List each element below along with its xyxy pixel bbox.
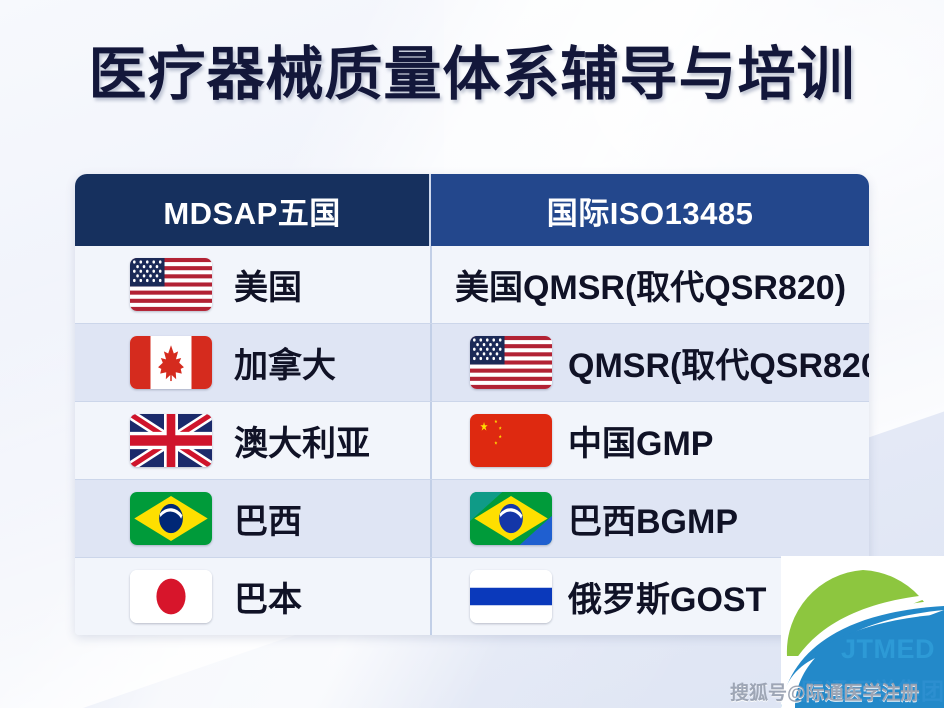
flag-brazil-icon [470,492,552,545]
logo-brand-text: JTMED [841,634,935,665]
cell-label: 美国QMSR(取代QSR820) [455,260,846,309]
table-header-mdsap: MDSAP五国 [75,174,429,246]
table-header-mdsap-label: MDSAP五国 [163,188,340,233]
cell-label: 加拿大 [234,338,336,387]
cell-label: QMSR(取代QSR820) [568,338,869,387]
cell-iso-standard: 巴西BGMP [430,480,869,557]
cell-mdsap-country: 加拿大 [75,324,430,401]
flag-us-icon [130,258,212,311]
cell-label: 中国GMP [568,416,713,465]
cell-mdsap-country: 巴西 [75,480,430,557]
cell-iso-standard: 中国GMP [430,402,869,479]
table-row: 巴西 巴西BGMP [75,479,869,557]
table-header-iso-label: 国际ISO13485 [547,188,754,233]
cell-iso-standard: QMSR(取代QSR820) [430,324,869,401]
flag-brazil-icon [130,492,212,545]
cell-mdsap-country: 澳大利亚 [75,402,430,479]
cell-iso-standard: 美国QMSR(取代QSR820) [430,246,869,323]
page-title: 医疗器械质量体系辅导与培训 [0,44,944,107]
flag-china-icon [470,414,552,467]
table-row: 加拿大 [75,323,869,401]
flag-japan-icon [130,570,212,623]
cell-label: 巴西 [234,494,302,543]
cell-label: 美国 [234,260,302,309]
flag-us-icon [470,336,552,389]
cell-mdsap-country: 美国 [75,246,430,323]
flag-canada-icon [130,336,212,389]
flag-russia-icon [470,570,552,623]
comparison-table: MDSAP五国 国际ISO13485 [75,174,869,635]
table-header-iso: 国际ISO13485 [429,174,869,246]
cell-label: 澳大利亚 [234,416,370,465]
cell-label: 巴西BGMP [568,494,738,543]
cell-label: 俄罗斯GOST [568,572,766,621]
watermark-text: 搜狐号@际通医学注册 [730,678,920,705]
cell-mdsap-country: 巴本 [75,558,430,635]
cell-label: 巴本 [234,572,302,621]
table-row: 美国 美国QMSR(取代QSR820) [75,246,869,323]
slide-canvas: 医疗器械质量体系辅导与培训 MDSAP五国 国际ISO13485 [0,0,944,708]
flag-uk-icon [130,414,212,467]
table-header-row: MDSAP五国 国际ISO13485 [75,174,869,246]
table-row: 澳大利亚 中国GMP [75,401,869,479]
table-row: 巴本 俄罗斯GOST [75,557,869,635]
